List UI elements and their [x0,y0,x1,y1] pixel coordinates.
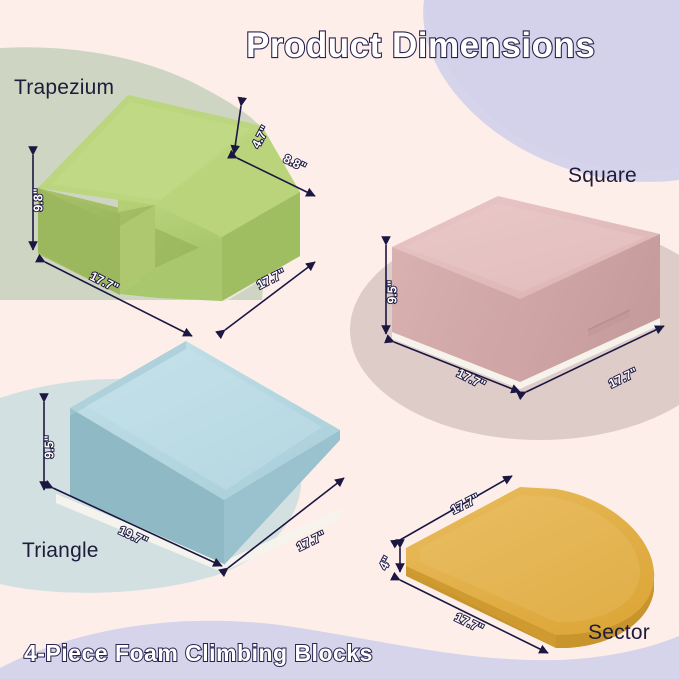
arrow-trapezium-width [45,262,192,336]
label-trapezium: Trapezium [14,76,114,100]
page-title: Product Dimensions [246,26,595,66]
label-sector: Sector [588,621,650,645]
label-square: Square [568,164,637,188]
arrow-sector-bottom-edge [400,580,548,653]
dimension-triangle-height: 9.5" [43,435,57,458]
dimension-arrows [0,0,679,679]
arrow-square-width [394,342,520,392]
infographic-canvas: Product Dimensions 4-Piece Foam Climbing… [0,0,679,679]
arrow-triangle-depth [228,478,344,568]
dimension-square-height: 9.5" [386,280,400,303]
arrow-trapezium-step-rise [234,106,241,154]
footer-caption: 4-Piece Foam Climbing Blocks [24,640,373,667]
arrow-square-depth [526,326,664,392]
label-triangle: Triangle [22,539,99,563]
dimension-trapezium-height: 9.8" [32,188,46,211]
